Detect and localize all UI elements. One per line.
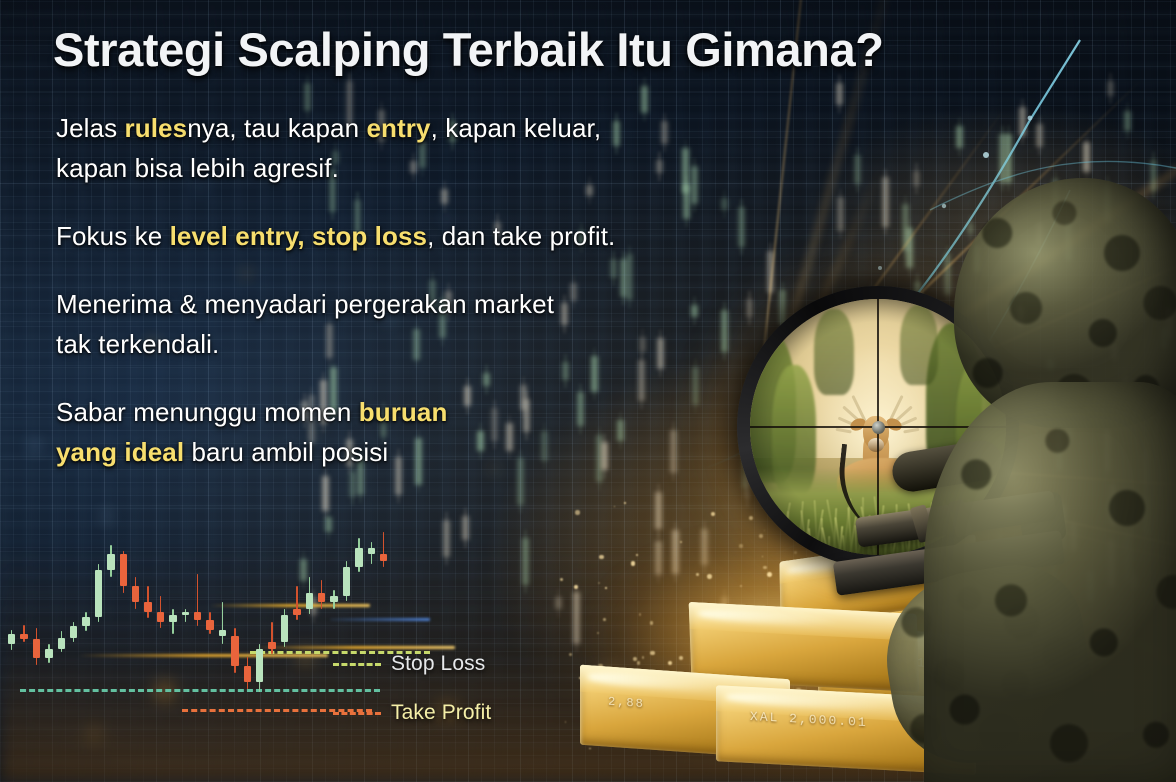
candle-wick bbox=[271, 622, 273, 654]
background-candle-wick bbox=[1127, 103, 1128, 139]
background-candle-body bbox=[837, 197, 844, 231]
background-candle-wick bbox=[1110, 73, 1111, 105]
trend-line-blue bbox=[330, 618, 430, 621]
body-text: , kapan keluar, bbox=[431, 113, 602, 143]
background-candle-wick bbox=[905, 196, 906, 259]
candle-body bbox=[244, 666, 251, 682]
grass-blade bbox=[758, 533, 761, 555]
body-text: , dan take profit. bbox=[427, 221, 615, 251]
candle-body bbox=[107, 554, 114, 570]
body-text: Sabar menunggu momen bbox=[56, 397, 359, 427]
candle-body bbox=[58, 638, 65, 649]
highlight-text: buruan bbox=[359, 397, 448, 427]
candle-body bbox=[355, 548, 362, 567]
background-candle-body bbox=[836, 83, 843, 105]
candle-body bbox=[157, 612, 164, 622]
background-candle-body bbox=[902, 204, 909, 251]
candle-body bbox=[281, 615, 288, 642]
candle-body bbox=[182, 612, 189, 615]
candle-body bbox=[219, 630, 226, 636]
grass-blade bbox=[752, 515, 754, 555]
background-candle-wick bbox=[840, 189, 841, 239]
hunter-torso bbox=[924, 382, 1176, 782]
body-text: kapan bisa lebih agresif. bbox=[56, 153, 339, 183]
background-candle-body bbox=[913, 171, 920, 186]
candle-body bbox=[231, 636, 238, 666]
paragraph-p3: Menerima & menyadari pergerakan marketta… bbox=[56, 284, 756, 364]
candle-body bbox=[194, 612, 201, 620]
background-candle-body bbox=[882, 177, 889, 228]
candle-body bbox=[368, 548, 375, 554]
background-candle-body bbox=[1107, 81, 1114, 97]
trend-line-amber-lower bbox=[78, 654, 328, 657]
candle-body bbox=[169, 615, 176, 621]
candle-body bbox=[256, 649, 263, 683]
highlight-text: entry bbox=[367, 113, 431, 143]
candle-body bbox=[343, 567, 350, 596]
highlight-text: rules bbox=[125, 113, 188, 143]
candle-body bbox=[20, 634, 27, 639]
candle-body bbox=[45, 649, 52, 659]
background-candle-wick bbox=[839, 75, 840, 113]
candle-body bbox=[33, 639, 40, 658]
stop-loss-label: Stop Loss bbox=[391, 652, 485, 676]
poster-canvas: Stop Loss Take Profit 865.9 2,920.11 2,8… bbox=[0, 0, 1176, 782]
background-candle-wick bbox=[465, 508, 466, 548]
take-profit-label: Take Profit bbox=[391, 701, 491, 725]
candle-wick bbox=[383, 532, 385, 567]
candle-wick bbox=[185, 609, 187, 622]
background-candle-body bbox=[443, 520, 450, 558]
body-copy: Jelas rulesnya, tau kapan entry, kapan k… bbox=[56, 108, 756, 472]
paragraph-p1: Jelas rulesnya, tau kapan entry, kapan k… bbox=[56, 108, 756, 188]
stop-loss-dash-swatch bbox=[333, 663, 381, 666]
candle-body bbox=[306, 593, 313, 609]
candle-body bbox=[82, 617, 89, 627]
highlight-text: level entry, stop loss bbox=[170, 221, 427, 251]
candle-body bbox=[330, 596, 337, 602]
trend-line-amber-top bbox=[210, 604, 370, 607]
background-candle-body bbox=[854, 155, 861, 184]
background-candle-wick bbox=[1022, 99, 1023, 144]
background-candle-body bbox=[1036, 124, 1043, 147]
background-candle-body bbox=[462, 516, 469, 540]
candle-wick bbox=[172, 609, 174, 635]
body-text: Fokus ke bbox=[56, 221, 170, 251]
sparkle bbox=[575, 510, 579, 514]
background-candle-body bbox=[322, 476, 329, 511]
legend-stop-loss: Stop Loss bbox=[333, 652, 485, 676]
background-candle-wick bbox=[446, 512, 447, 566]
candle-body bbox=[318, 593, 325, 603]
background-candle-body bbox=[1124, 111, 1131, 131]
background-candle-wick bbox=[909, 220, 910, 276]
candle-body bbox=[132, 586, 139, 602]
background-candle-wick bbox=[885, 169, 886, 236]
candle-body bbox=[268, 642, 275, 648]
candle-body bbox=[120, 554, 127, 586]
candle-body bbox=[70, 626, 77, 637]
candle-body bbox=[293, 609, 300, 615]
hunter-figure bbox=[934, 150, 1176, 782]
sparkle bbox=[614, 506, 615, 507]
candle-body bbox=[144, 602, 151, 612]
background-candle-body bbox=[1019, 107, 1026, 136]
support-line-teal bbox=[20, 689, 380, 692]
body-text: baru ambil posisi bbox=[184, 437, 388, 467]
body-text: nya, tau kapan bbox=[187, 113, 366, 143]
paragraph-p4: Sabar menunggu momen buruanyang ideal ba… bbox=[56, 392, 756, 472]
paragraph-p2: Fokus ke level entry, stop loss, dan tak… bbox=[56, 216, 756, 256]
sparkle bbox=[711, 512, 715, 516]
candle-body bbox=[95, 570, 102, 616]
background-candle-body bbox=[906, 228, 913, 268]
highlight-text: yang ideal bbox=[56, 437, 184, 467]
body-text: tak terkendali. bbox=[56, 329, 219, 359]
candle-body bbox=[380, 554, 387, 560]
legend-take-profit: Take Profit bbox=[333, 701, 491, 725]
background-candle-wick bbox=[325, 468, 326, 519]
background-candle-wick bbox=[558, 589, 559, 617]
sparkle bbox=[624, 502, 626, 504]
background-candle-wick bbox=[857, 147, 858, 192]
background-candle-body bbox=[956, 126, 963, 148]
background-candle-body bbox=[522, 538, 529, 585]
background-candle-body bbox=[304, 83, 311, 110]
candle-wick bbox=[222, 602, 224, 644]
candle-body bbox=[8, 634, 15, 644]
body-text: Jelas bbox=[56, 113, 125, 143]
background-candle-wick bbox=[916, 163, 917, 194]
gold-bar-bottom-left-text: 2,88 bbox=[608, 695, 645, 712]
background-candle-body bbox=[349, 472, 356, 497]
candle-body bbox=[206, 620, 213, 630]
take-profit-dash-swatch bbox=[333, 712, 381, 715]
page-title: Strategi Scalping Terbaik Itu Gimana? bbox=[53, 22, 884, 77]
background-candle-wick bbox=[525, 530, 526, 593]
body-text: Menerima & menyadari pergerakan market bbox=[56, 289, 554, 319]
